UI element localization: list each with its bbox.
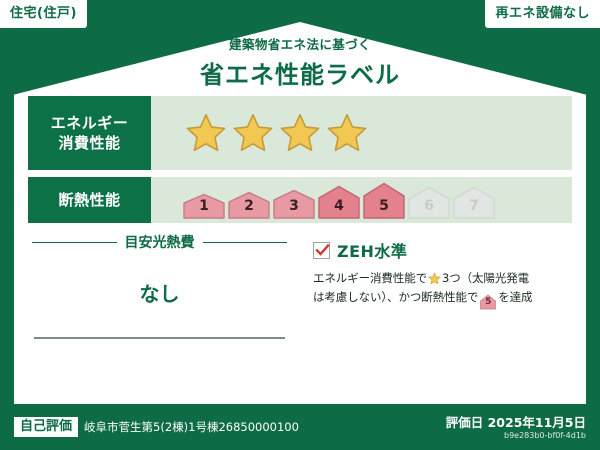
insulation-badge: 5 [363,182,405,219]
insulation-badge-value: 6 [424,198,434,219]
star-icon [279,112,321,154]
zeh-section: ZEH水準 エネルギー消費性能で3つ（太陽光発電 は考慮しない）、かつ断熱性能で… [303,232,572,339]
insulation-badge: 4 [318,185,360,219]
heading-title: 省エネ性能ラベル [0,55,600,90]
energy-performance-value [151,96,572,170]
energy-performance-row: エネルギー 消費性能 [28,96,572,170]
insulation-badge-value: 7 [469,198,479,219]
insulation-badge: 2 [228,191,270,219]
energy-label-line2: 消費性能 [58,133,120,153]
insulation-badge-value: 4 [334,198,344,219]
label-panel: エネルギー 消費性能 断熱性能 1234567 目安光熱費 [28,96,572,339]
label-heading: 建築物省エネ法に基づく 省エネ性能ラベル [0,34,600,90]
utility-cost-heading-text: 目安光熱費 [125,232,195,252]
insulation-badge: 7 [453,186,495,219]
insulation-performance-row: 断熱性能 1234567 [28,177,572,223]
evaluation-date-value: 2025年11月5日 [488,415,586,430]
zeh-description: エネルギー消費性能で3つ（太陽光発電 は考慮しない）、かつ断熱性能で5を達成 [313,269,572,308]
zeh-checkbox [313,242,330,259]
check-icon [315,243,330,258]
label-footer: 自己評価 岐阜市菅生第5(2棟)1号棟26850000100 評価日 2025年… [0,404,600,450]
energy-label-root: 住宅(住戸) 再エネ設備なし 建築物省エネ法に基づく 省エネ性能ラベル エネルギ… [0,0,600,450]
tag-renewable-equipment: 再エネ設備なし [485,0,600,28]
utility-cost-heading: 目安光熱費 [28,232,291,252]
zeh-desc-stars: 3つ（太陽光発電 [442,271,529,285]
insulation-badge-value: 3 [289,198,299,219]
energy-label-line1: エネルギー [51,113,129,133]
energy-performance-label: エネルギー 消費性能 [28,96,151,170]
utility-cost-section: 目安光熱費 なし [28,232,303,339]
insulation-badge-value: 1 [199,198,209,219]
lower-section: 目安光熱費 なし ZEH水準 エネルギー消費性能で3つ（太陽光発電 [28,232,572,339]
tag-building-type: 住宅(住戸) [0,0,87,28]
star-icon [232,112,274,154]
star-rating [185,112,368,154]
zeh-title-text: ZEH水準 [337,238,407,262]
star-icon [185,112,227,154]
zeh-desc-part2: は考慮しない）、かつ断熱性能で [313,290,478,304]
insulation-badge: 3 [273,189,315,219]
evaluation-hash: b9e283b0-bf0f-4d1b [446,431,586,441]
inline-badge-value: 5 [480,294,496,310]
insulation-badge-value: 2 [244,198,254,219]
evaluation-date-label: 評価日 [446,415,484,430]
footer-right-block: 評価日 2025年11月5日 b9e283b0-bf0f-4d1b [446,412,586,441]
inline-star-icon [428,272,441,285]
insulation-performance-label: 断熱性能 [28,177,151,223]
cost-rule-left [32,242,117,243]
heading-subtitle: 建築物省エネ法に基づく [0,34,600,53]
insulation-performance-value: 1234567 [151,177,572,223]
evaluation-date: 評価日 2025年11月5日 [446,415,586,430]
zeh-desc-part3: を達成 [498,290,532,304]
zeh-desc-part1: エネルギー消費性能で [313,271,427,285]
self-evaluation-badge: 自己評価 [14,417,78,437]
insulation-badge: 6 [408,186,450,219]
insulation-badge-value: 5 [379,198,389,219]
zeh-title-row: ZEH水準 [313,238,572,262]
inline-insulation-badge: 5 [480,294,496,308]
insulation-label-text: 断熱性能 [58,190,120,210]
star-icon [326,112,368,154]
cost-bottom-divider [34,337,285,339]
cost-rule-right [203,242,288,243]
insulation-grade-scale: 1234567 [183,182,495,219]
utility-cost-value: なし [28,252,291,329]
site-name-text: 岐阜市菅生第5(2棟)1号棟26850000100 [84,419,299,435]
insulation-badge: 1 [183,193,225,219]
